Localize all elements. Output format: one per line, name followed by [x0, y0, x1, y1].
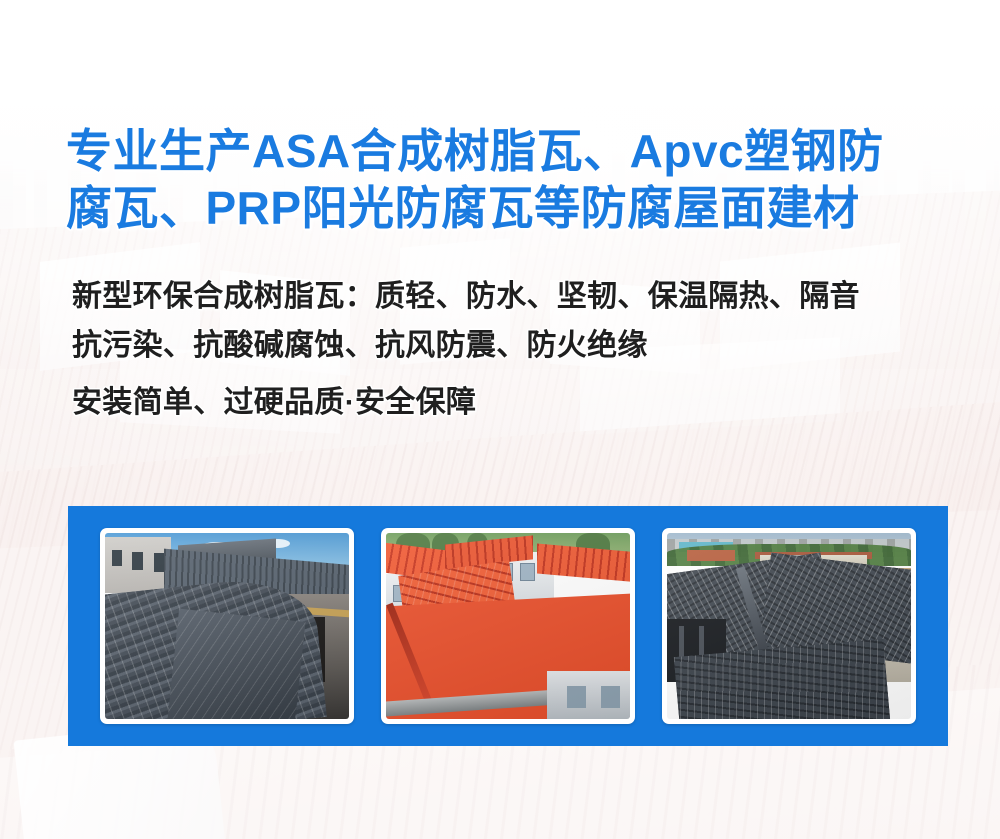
headline-line-1: 专业生产ASA合成树脂瓦、Apvc塑钢防 — [66, 123, 946, 180]
gallery-photo-3[interactable] — [662, 528, 916, 724]
feature-line-1: 新型环保合成树脂瓦：质轻、防水、坚韧、保温隔热、隔音 — [72, 272, 952, 321]
feature-line-2: 抗污染、抗酸碱腐蚀、抗风防震、防火绝缘 — [72, 321, 952, 370]
banner-content: 专业生产ASA合成树脂瓦、Apvc塑钢防 腐瓦、PRP阳光防腐瓦等防腐屋面建材 … — [0, 0, 1000, 839]
feature-line-3: 安装简单、过硬品质·安全保障 — [72, 378, 952, 427]
gallery-photo-2[interactable] — [381, 528, 635, 724]
headline-line-2: 腐瓦、PRP阳光防腐瓦等防腐屋面建材 — [66, 180, 946, 237]
grey-resin-tile-roof-courtyard-image — [105, 533, 349, 719]
gallery-photo-1[interactable] — [100, 528, 354, 724]
product-banner: 专业生产ASA合成树脂瓦、Apvc塑钢防 腐瓦、PRP阳光防腐瓦等防腐屋面建材 … — [0, 0, 1000, 839]
dark-resin-tile-roof-village-image — [667, 533, 911, 719]
photo-gallery-panel — [68, 506, 948, 746]
feature-list: 新型环保合成树脂瓦：质轻、防水、坚韧、保温隔热、隔音 抗污染、抗酸碱腐蚀、抗风防… — [72, 272, 952, 427]
page-title: 专业生产ASA合成树脂瓦、Apvc塑钢防 腐瓦、PRP阳光防腐瓦等防腐屋面建材 — [66, 123, 946, 237]
red-resin-tile-roof-buildings-image — [386, 533, 630, 719]
